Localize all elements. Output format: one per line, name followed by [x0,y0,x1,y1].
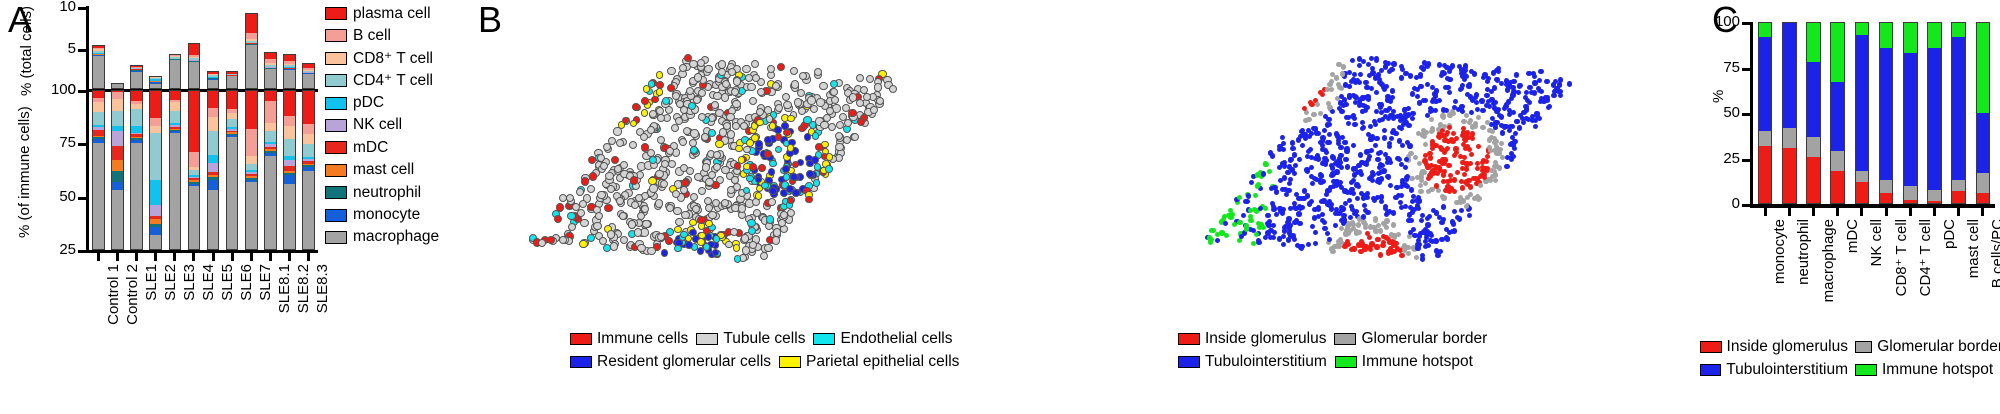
xaxis-label: macrophage [1820,219,1837,302]
xaxis-label: SLE8.1 [276,264,293,313]
region-dot [1521,120,1526,125]
region-dot [1479,98,1484,103]
bar-panel-a-bottom-10 [283,90,296,250]
cell-dot [641,205,649,213]
cell-dot [723,122,731,130]
bar-segment [283,116,296,127]
region-dot [1499,123,1504,128]
cell-dot [734,162,742,170]
bar-panel-c-8 [1951,22,1966,204]
region-dot [1327,117,1332,122]
region-dot [1219,230,1224,235]
cell-dot [685,241,693,249]
cell-dot [704,65,712,73]
region-dot [1491,70,1496,75]
region-dot [1462,172,1467,177]
xaxis-label: SLE3 [181,264,198,301]
bar-segment [302,144,315,157]
cell-dot [607,230,615,238]
cell-dot [758,164,766,172]
region-dot [1342,140,1347,145]
region-dot [1533,124,1538,129]
region-dot [1329,246,1334,251]
region-dot [1334,183,1339,188]
region-dot [1325,231,1330,236]
cell-dot [667,84,675,92]
cell-dot [787,209,795,217]
xaxis-label: CD8⁺ T cell [1892,219,1910,296]
cell-dot [764,136,772,144]
region-dot [1448,178,1453,183]
cell-dot [576,188,584,196]
region-dot [1246,193,1251,198]
cell-dot [630,176,638,184]
region-dot [1292,237,1297,242]
region-dot [1409,187,1414,192]
bar-segment [207,155,220,164]
bar-segment [111,111,124,126]
bar-segment [302,171,315,250]
legend-label: neutrophil [353,184,421,202]
region-dot [1434,183,1439,188]
cell-dot [680,106,688,114]
region-dot [1480,108,1485,113]
cell-dot [746,175,754,183]
xtick [1885,207,1888,216]
region-dot [1304,167,1309,172]
region-dot [1475,161,1480,166]
cell-dot [733,77,741,85]
region-dot [1292,171,1297,176]
region-dot [1380,243,1385,248]
panel-a-bottom-chart: % (of immune cells) 100755025 Control 1C… [18,86,318,266]
region-dot [1318,180,1323,185]
region-dot [1530,118,1535,123]
bar-segment [1879,180,1894,193]
region-dot [1446,163,1451,168]
region-dot [1459,208,1464,213]
region-dot [1346,121,1351,126]
legend-item-b-cell: B cell [325,28,465,43]
cell-dot [733,244,741,252]
cell-dot [805,196,813,204]
bar-segment [1782,128,1797,148]
xtick [1788,207,1791,216]
cell-dot [680,186,688,194]
region-dot [1447,125,1452,130]
region-dot [1215,232,1220,237]
bar-segment [92,102,105,112]
cell-dot [755,192,763,200]
cell-dot [768,198,776,206]
region-dot [1296,137,1301,142]
cell-dot [679,138,687,146]
xaxis-label: mDC [1844,219,1861,253]
cell-dot [686,87,694,95]
region-dot [1523,104,1528,109]
region-dot [1310,181,1315,186]
bar-segment [1782,22,1797,128]
cell-dot [651,96,659,104]
bar-segment [188,62,201,89]
region-dot [1358,249,1363,254]
bar-segment [149,118,162,127]
region-dot [1215,238,1220,243]
legend-row: Immune cellsTubule cellsEndothelial cell… [570,330,959,348]
legend-swatch [1335,356,1357,368]
legend-label: macrophage [353,228,439,246]
region-dot [1348,215,1353,220]
region-dot [1350,58,1355,63]
ytick-label: 50 [1704,104,1740,121]
legend-swatch [1334,333,1356,345]
region-dot [1387,69,1392,74]
region-dot [1440,113,1445,118]
legend-swatch [570,333,592,345]
region-dot [1353,95,1358,100]
region-dot [1253,193,1258,198]
region-dot [1347,84,1352,89]
region-dot [1409,218,1414,223]
cell-dot [764,244,772,252]
region-dot [1228,215,1233,220]
xtick [116,253,119,261]
region-dot [1447,230,1452,235]
xtick [192,253,195,261]
xaxis-label: neutrophil [1795,219,1812,285]
cell-dot [656,71,664,79]
region-dot [1514,119,1519,124]
bar-segment [169,133,182,250]
legend-row: Inside glomerulusGlomerular border [1700,338,2000,356]
region-dot [1327,188,1332,193]
region-dot [1407,234,1412,239]
bar-segment [111,131,124,146]
region-dot [1387,159,1392,164]
ytick-label: 75 [1704,59,1740,76]
region-dot [1244,223,1249,228]
cell-dot [610,242,618,250]
cell-dot [747,219,755,227]
cell-dot [656,88,664,96]
cell-dot [825,165,833,173]
region-dot [1504,164,1509,169]
region-dot [1299,246,1304,251]
cell-dot [790,67,798,75]
region-dot [1318,172,1323,177]
bar-segment [188,186,201,250]
legend-swatch [325,74,347,87]
legend-swatch [1855,341,1872,353]
region-dot [1373,217,1378,222]
legend-item-tubulointerstitium: Tubulointerstitium [1700,361,1848,379]
region-dot [1439,237,1444,242]
cell-dot [721,166,729,174]
cell-dot [735,145,743,153]
cell-dot [727,186,735,194]
cell-dot [768,168,776,176]
region-dot [1442,157,1447,162]
cell-dot [826,107,834,115]
region-dot [1492,100,1497,105]
region-dot [1302,132,1307,137]
region-dot [1362,203,1367,208]
region-dot [1339,86,1344,91]
cell-dot [689,60,697,68]
region-dot [1319,199,1324,204]
region-dot [1507,128,1512,133]
bar-segment [207,108,220,117]
cell-dot [647,247,655,255]
region-dot [1333,223,1338,228]
cell-dot [605,172,613,180]
cell-dot [889,85,897,93]
region-dot [1360,120,1365,125]
legend-label: Immune hotspot [1362,353,1473,371]
legend-item-pdc: pDC [325,96,465,111]
region-dot [1224,233,1229,238]
bar-segment [149,133,162,180]
region-dot [1352,122,1357,127]
panel-letter-b: B [478,2,502,38]
region-dot [1404,175,1409,180]
region-dot [1309,165,1314,170]
cell-dot [683,127,691,135]
bar-panel-c-9 [1976,22,1991,204]
xtick [212,253,215,261]
cell-dot [810,105,818,113]
region-dot [1329,163,1334,168]
region-dot [1460,83,1465,88]
legend-row: Inside glomerulusGlomerular border [1178,330,1487,348]
cell-dot [816,98,824,106]
panel-a-bottom-ylabel: % (of immune cells) [16,92,33,252]
bar-segment [111,99,124,112]
legend-item-cd8--t-cell: CD8⁺ T cell [325,51,465,66]
cell-dot [713,92,721,100]
legend-swatch [325,209,347,222]
panel-b-region-map [1175,8,1605,308]
region-dot [1326,101,1331,106]
region-dot [1546,105,1551,110]
region-dot [1476,115,1481,120]
legend-row: TubulointerstitiumImmune hotspot [1700,361,2000,379]
bar-segment [226,90,239,109]
xtick [1981,207,1984,216]
legend-swatch [325,186,347,199]
region-dot [1374,244,1379,249]
region-dot [1433,164,1438,169]
region-dot [1476,144,1481,149]
bar-segment [283,175,296,184]
region-dot [1280,135,1285,140]
region-dot [1537,78,1542,83]
region-dot [1377,102,1382,107]
region-dot [1544,79,1549,84]
cell-dot [766,215,774,223]
xtick [1812,207,1815,216]
cell-dot [756,119,764,127]
legend-item-tubule-cells: Tubule cells [696,330,805,348]
region-dot [1418,189,1423,194]
region-dot [1428,109,1433,114]
bar-segment [149,205,162,216]
region-dot [1466,84,1471,89]
cell-dot [660,180,668,188]
legend-swatch [1700,341,1722,353]
region-dot [1313,230,1318,235]
legend-item-tubulointerstitium: Tubulointerstitium [1178,353,1327,371]
region-dot [1415,245,1420,250]
cell-dot [697,238,705,246]
region-dot [1400,143,1405,148]
bar-segment [302,124,315,135]
cell-dot [689,219,697,227]
region-dot [1453,99,1458,104]
legend-swatch [1178,333,1200,345]
region-dot [1363,104,1368,109]
legend-swatch [325,52,347,65]
cell-dot [600,162,608,170]
region-dot [1418,231,1423,236]
xtick [154,253,157,261]
region-dot [1300,205,1305,210]
region-dot [1334,131,1339,136]
region-dot [1447,90,1452,95]
xaxis-label: SLE6 [238,264,255,301]
bar-segment [169,60,182,89]
bar-segment [149,227,162,236]
region-dot [1469,110,1474,115]
cell-dot [547,236,555,244]
xaxis-label: SLE4 [200,264,217,301]
bar-segment [207,163,220,172]
bar-segment [1927,201,1942,204]
cell-dot [814,163,822,171]
bar-panel-a-bottom-11 [302,90,315,250]
cell-dot [794,98,802,106]
legend-label: Tubulointerstitium [1205,353,1327,371]
region-dot [1429,117,1434,122]
cell-dot [681,179,689,187]
region-dot [1311,112,1316,117]
region-dot [1494,77,1499,82]
cell-dot [581,177,589,185]
region-dot [1315,153,1320,158]
panel-a-bottom-bars [89,90,318,250]
cell-dot [616,139,624,147]
bar-panel-c-0 [1758,22,1773,204]
bar-segment [283,126,296,139]
legend-item-mdc: mDC [325,140,465,155]
region-dot [1320,218,1325,223]
bar-segment [1951,37,1966,181]
region-dot [1309,102,1314,107]
region-dot [1366,149,1371,154]
bar-segment [283,90,296,116]
xaxis-label: mast cell [1965,219,1982,278]
region-dot [1387,141,1392,146]
region-dot [1363,80,1368,85]
region-dot [1418,183,1423,188]
region-dot [1395,156,1400,161]
xaxis-label: SLE8.3 [314,264,331,313]
region-dot [1361,214,1366,219]
region-dot [1478,183,1483,188]
region-dot [1505,87,1510,92]
cell-dot [843,136,851,144]
region-dot [1420,169,1425,174]
bar-segment [1806,157,1821,204]
cell-dot [675,218,683,226]
bar-segment [1903,53,1918,186]
legend-label: Glomerular border [1877,338,2000,356]
bar-segment [302,90,315,124]
region-dot [1302,188,1307,193]
region-dot [1318,90,1323,95]
region-dot [1302,106,1307,111]
xaxis-label: NK cell [1868,219,1885,267]
region-dot [1554,86,1559,91]
region-dot [1385,174,1390,179]
legend-swatch [696,333,718,345]
bar-panel-c-5 [1879,22,1894,204]
cell-dot [775,146,783,154]
bar-segment [1806,62,1821,137]
region-dot [1296,211,1301,216]
bar-segment [283,184,296,250]
region-dot [1484,93,1489,98]
cell-dot [767,65,775,73]
ytick-label: 5 [32,40,76,57]
xaxis-label: Control 1 [105,264,122,325]
region-dot [1436,188,1441,193]
region-dot [1383,204,1388,209]
xtick [1909,207,1912,216]
region-dot [1433,143,1438,148]
bar-segment [283,139,296,156]
bar-segment [1830,82,1845,151]
bar-panel-a-bottom-6 [207,90,220,250]
bar-segment [169,90,182,100]
bar-panel-a-top-9 [264,52,277,89]
cell-dot [734,255,742,263]
cell-dot [698,89,706,97]
region-dot [1499,141,1504,146]
region-dot [1272,185,1277,190]
cell-dot [775,133,783,141]
panel-c-chart: % 1007550250 monocyteneutrophilmacrophag… [1700,6,2000,306]
legend-item-inside-glomerulus: Inside glomerulus [1178,330,1326,348]
cell-dot [604,204,612,212]
legend-label: Resident glomerular cells [597,353,771,371]
cell-dot [690,129,698,137]
region-dot [1388,183,1393,188]
region-dot [1395,246,1400,251]
region-dot [1393,195,1398,200]
bar-segment [207,180,220,191]
region-dot [1404,157,1409,162]
region-dot [1460,160,1465,165]
bar-panel-a-bottom-2 [130,90,143,250]
cell-dot [870,106,878,114]
bar-segment [1758,146,1773,204]
region-dot [1261,171,1266,176]
region-dot [1300,143,1305,148]
region-dot [1437,135,1442,140]
xtick [1933,207,1936,216]
region-dot [1406,123,1411,128]
